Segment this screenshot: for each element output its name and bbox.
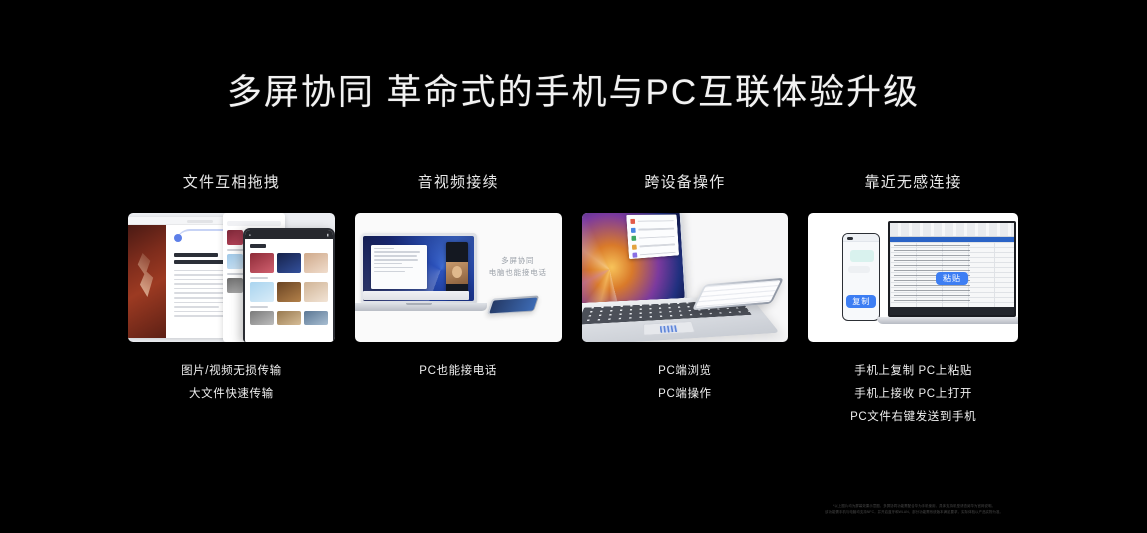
panel-image-proximity-connect: 复制 粘贴	[808, 213, 1018, 342]
feature-column-cross-device: 跨设备操作 PC端浏览 P	[582, 174, 789, 474]
footnote: *以上图片均为屏幕效果示意图，多屏协同功能需配合华为手机使用，具体支持机型请查阅…	[789, 503, 1039, 515]
side-text-line: 电脑也能接电话	[475, 267, 561, 279]
caption-line: PC也能接电话	[419, 360, 497, 383]
panel-image-av-continuity: 多屏协同 电脑也能接电话	[355, 213, 562, 342]
feature-columns: 文件互相拖拽	[128, 174, 1018, 474]
panel-side-text: 多屏协同 电脑也能接电话	[475, 255, 561, 279]
column-heading: 靠近无感连接	[865, 174, 962, 192]
caption-line: 手机上接收 PC上打开	[850, 383, 976, 406]
caption-line: 手机上复制 PC上粘贴	[850, 360, 976, 383]
laptop-base	[877, 317, 1018, 324]
column-caption: PC也能接电话	[419, 360, 497, 383]
windows-taskbar	[890, 307, 1014, 315]
caption-line: 大文件快速传输	[181, 383, 282, 406]
panel-image-cross-device	[582, 213, 789, 342]
chat-bubble	[850, 250, 874, 262]
side-text-line: 多屏协同	[475, 255, 561, 267]
thumbnail-grid	[250, 311, 328, 325]
phone-mirror-window	[446, 242, 468, 298]
phone-flat-illustration	[692, 278, 784, 311]
caption-line: 图片/视频无损传输	[181, 360, 282, 383]
feature-column-proximity-connect: 靠近无感连接 复制 粘贴	[808, 174, 1018, 474]
caption-line: PC端操作	[658, 383, 711, 406]
phone-camera-icon	[847, 237, 853, 240]
caption-line: PC端浏览	[658, 360, 711, 383]
footnote-line: 该功能需手机与电脑均支持NFC，并开启蓝牙和WLAN，部分功能需系统版本满足要求…	[789, 509, 1039, 515]
laptop-lid: 粘贴	[888, 221, 1016, 317]
paste-button[interactable]: 粘贴	[936, 272, 968, 285]
laptop-illustration: 粘贴	[888, 221, 1016, 329]
laptop-base	[355, 303, 487, 311]
feature-column-file-drag: 文件互相拖拽	[128, 174, 335, 474]
phone-illustration: 复制	[842, 233, 880, 321]
spreadsheet-screen: 粘贴	[890, 223, 1014, 315]
trackpad	[642, 321, 695, 336]
phone-gallery-illustration: ●▮	[243, 228, 335, 342]
column-caption: PC端浏览 PC端操作	[658, 360, 711, 406]
column-heading: 音视频接续	[418, 174, 499, 192]
page-title: 多屏协同 革命式的手机与PC互联体验升级	[0, 72, 1147, 114]
spreadsheet-ribbon	[890, 223, 1014, 237]
drag-handle-dot-icon	[174, 234, 182, 242]
feature-column-av-continuity: 音视频接续	[355, 174, 562, 474]
column-heading: 文件互相拖拽	[183, 174, 280, 192]
caption-line: PC文件右键发送到手机	[850, 406, 976, 429]
column-caption: 手机上复制 PC上粘贴 手机上接收 PC上打开 PC文件右键发送到手机	[850, 360, 976, 429]
chat-bubble	[848, 266, 870, 273]
phone-status-bar: ●▮	[245, 230, 333, 239]
desktop-window	[626, 215, 679, 259]
column-caption: 图片/视频无损传输 大文件快速传输	[181, 360, 282, 406]
desktop-window	[371, 245, 427, 289]
thumbnail-grid	[250, 282, 328, 302]
panel-image-file-drag: ●▮	[128, 213, 335, 342]
article-hero-image	[128, 225, 166, 338]
column-heading: 跨设备操作	[644, 174, 725, 192]
copy-button[interactable]: 复制	[846, 295, 876, 308]
laptop-illustration	[361, 233, 477, 319]
laptop-keyboard	[363, 291, 469, 300]
phone-flat-illustration	[487, 295, 540, 314]
thumbnail-grid	[250, 253, 328, 273]
